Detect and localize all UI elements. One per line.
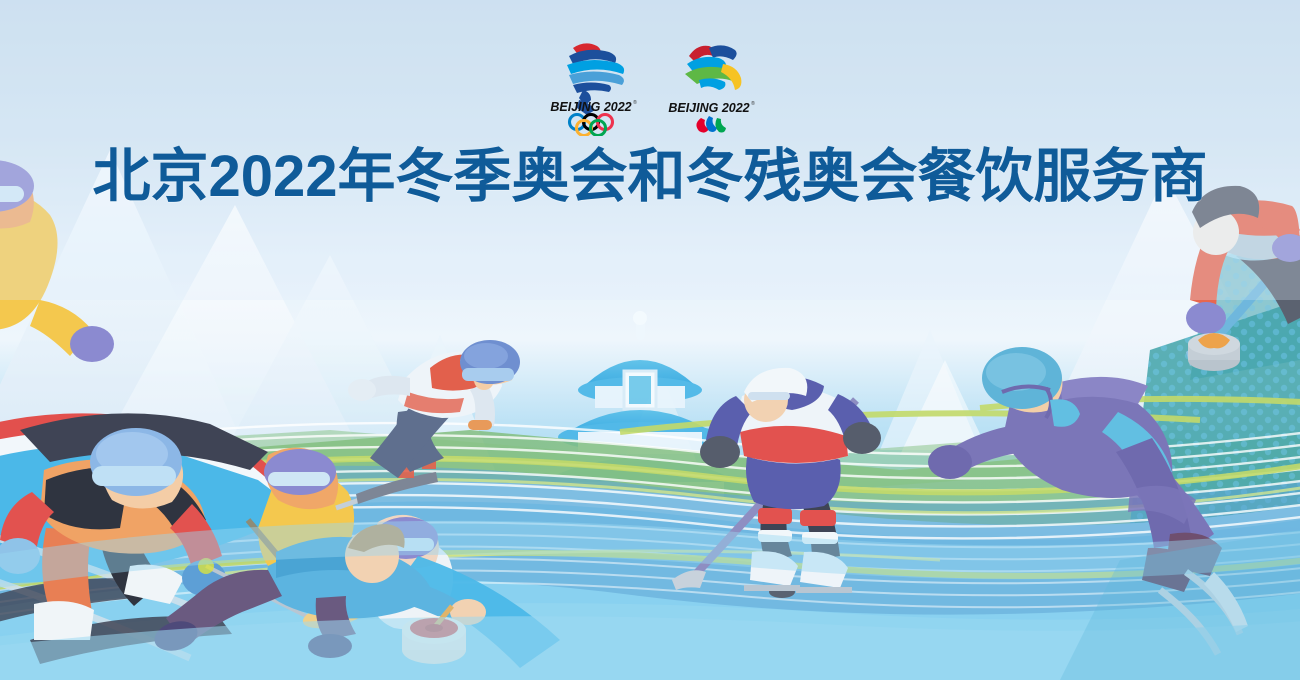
page-title: 北京2022年冬季奥会和冬残奥会餐饮服务商 [0, 147, 1300, 207]
olympic-emblem: BEIJING 2022 ® [539, 36, 643, 136]
svg-text:BEIJING 2022: BEIJING 2022 [550, 100, 631, 114]
curling-stone-right [1188, 333, 1240, 371]
svg-text:®: ® [751, 100, 755, 107]
svg-text:BEIJING 2022: BEIJING 2022 [668, 101, 749, 115]
paralympic-ribbon-mark [685, 45, 741, 90]
emblem-row: BEIJING 2022 ® BEIJING 2022 [539, 36, 761, 136]
svg-text:®: ® [633, 99, 637, 106]
agitos-icon [696, 116, 726, 133]
beijing-2022-banner: BEIJING 2022 ® BEIJING 2022 [0, 0, 1300, 680]
olympic-rings-icon [570, 115, 613, 136]
olympic-wordmark: BEIJING 2022 ® [550, 99, 637, 114]
paralympic-emblem: BEIJING 2022 ® [657, 36, 761, 136]
paralympic-wordmark: BEIJING 2022 ® [668, 100, 755, 115]
